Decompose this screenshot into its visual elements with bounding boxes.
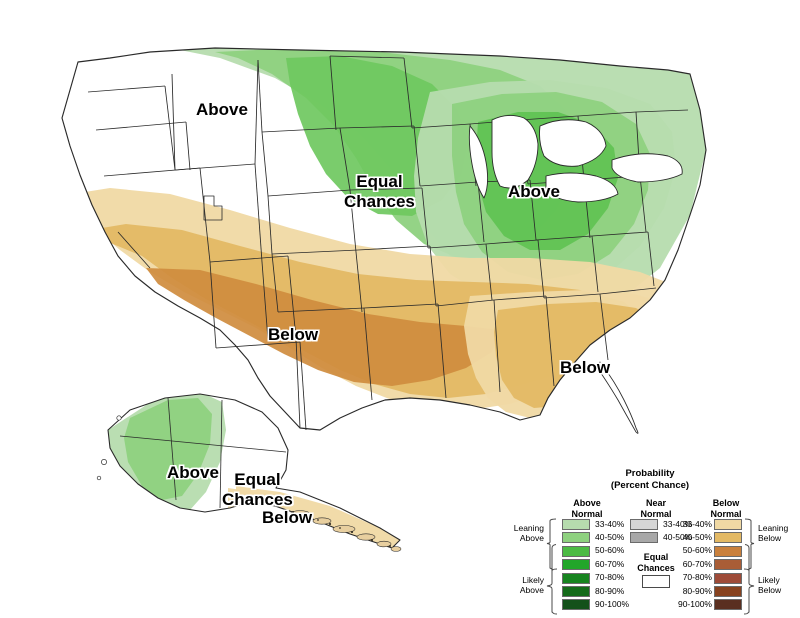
leaning-above-line-1: Leaning bbox=[500, 523, 544, 533]
legend-swatch-above-90-100 bbox=[562, 599, 590, 610]
legend-head-near-normal: Near Normal bbox=[630, 498, 682, 519]
legend-likely-above-label: Likely Above bbox=[500, 575, 544, 595]
legend-range-above-80-90: 80-90% bbox=[595, 586, 624, 597]
likely-below-line-2: Below bbox=[758, 585, 800, 595]
legend-swatch-above-50-60 bbox=[562, 546, 590, 557]
map-label-line-1: Equal bbox=[222, 470, 293, 490]
likely-below-line-1: Likely bbox=[758, 575, 800, 585]
legend-equal-line-1: Equal bbox=[630, 552, 682, 563]
legend-range-above-40-50: 40-50% bbox=[595, 532, 624, 543]
legend-swatch-near-33-40 bbox=[630, 519, 658, 530]
legend-range-above-90-100: 90-100% bbox=[595, 599, 629, 610]
legend-bracket-right bbox=[742, 518, 756, 616]
map-label-northwest-above: Above bbox=[196, 100, 248, 120]
legend-range-below-90-100: 90-100% bbox=[672, 599, 712, 610]
legend-leaning-below-label: Leaning Below bbox=[758, 523, 800, 543]
map-label-line-2: Chances bbox=[222, 490, 293, 510]
likely-above-line-1: Likely bbox=[500, 575, 544, 585]
legend-range-above-33-40: 33-40% bbox=[595, 519, 624, 530]
legend-range-below-80-90: 80-90% bbox=[672, 586, 712, 597]
legend-swatch-below-50-60 bbox=[714, 546, 742, 557]
legend-swatch-below-40-50 bbox=[714, 532, 742, 543]
legend-title-line-1: Probability bbox=[500, 468, 800, 480]
map-label-southwest-below: Below bbox=[268, 325, 318, 345]
legend-swatch-below-33-40 bbox=[714, 519, 742, 530]
legend-head-above-line-1: Above bbox=[557, 498, 617, 509]
legend-swatch-near-40-50 bbox=[630, 532, 658, 543]
legend-head-above-line-2: Normal bbox=[557, 509, 617, 520]
legend-swatch-below-60-70 bbox=[714, 559, 742, 570]
legend-head-near-line-1: Near bbox=[630, 498, 682, 509]
legend-swatch-below-80-90 bbox=[714, 586, 742, 597]
map-label-line-1: Equal bbox=[344, 172, 415, 192]
legend-range-above-70-80: 70-80% bbox=[595, 572, 624, 583]
leaning-above-line-2: Above bbox=[500, 533, 544, 543]
legend-head-below-line-1: Below bbox=[696, 498, 756, 509]
legend-swatch-above-80-90 bbox=[562, 586, 590, 597]
probability-legend: Probability (Percent Chance) Above Norma… bbox=[500, 468, 800, 618]
leaning-below-line-1: Leaning bbox=[758, 523, 800, 533]
map-label-alaska-above: Above bbox=[167, 463, 219, 483]
legend-range-below-33-40: 33-40% bbox=[672, 519, 712, 530]
legend-swatch-above-33-40 bbox=[562, 519, 590, 530]
map-label-alaska-below: Below bbox=[262, 508, 312, 528]
legend-likely-below-label: Likely Below bbox=[758, 575, 800, 595]
legend-swatch-above-40-50 bbox=[562, 532, 590, 543]
legend-title: Probability (Percent Chance) bbox=[500, 468, 800, 491]
leaning-below-line-2: Below bbox=[758, 533, 800, 543]
legend-head-near-line-2: Normal bbox=[630, 509, 682, 520]
legend-head-above-normal: Above Normal bbox=[557, 498, 617, 519]
legend-equal-chances-title: Equal Chances bbox=[630, 552, 682, 573]
map-label-great-lakes-above: Above bbox=[508, 182, 560, 202]
legend-swatch-below-70-80 bbox=[714, 573, 742, 584]
likely-above-line-2: Above bbox=[500, 585, 544, 595]
map-label-central-equal-chances: Equal Chances bbox=[344, 172, 415, 212]
legend-swatch-above-60-70 bbox=[562, 559, 590, 570]
map-label-gulf-below: Below bbox=[560, 358, 610, 378]
legend-range-below-40-50: 40-50% bbox=[672, 532, 712, 543]
legend-swatch-below-90-100 bbox=[714, 599, 742, 610]
map-label-line-2: Chances bbox=[344, 192, 415, 212]
legend-range-above-50-60: 50-60% bbox=[595, 545, 624, 556]
legend-leaning-above-label: Leaning Above bbox=[500, 523, 544, 543]
legend-equal-chances-swatch bbox=[642, 575, 670, 588]
legend-head-below-normal: Below Normal bbox=[696, 498, 756, 519]
legend-title-line-2: (Percent Chance) bbox=[500, 480, 800, 492]
legend-swatch-above-70-80 bbox=[562, 573, 590, 584]
legend-equal-line-2: Chances bbox=[630, 563, 682, 574]
legend-range-below-70-80: 70-80% bbox=[672, 572, 712, 583]
map-label-alaska-equal-chances: Equal Chances bbox=[222, 470, 293, 510]
legend-bracket-left bbox=[545, 518, 559, 616]
legend-range-above-60-70: 60-70% bbox=[595, 559, 624, 570]
